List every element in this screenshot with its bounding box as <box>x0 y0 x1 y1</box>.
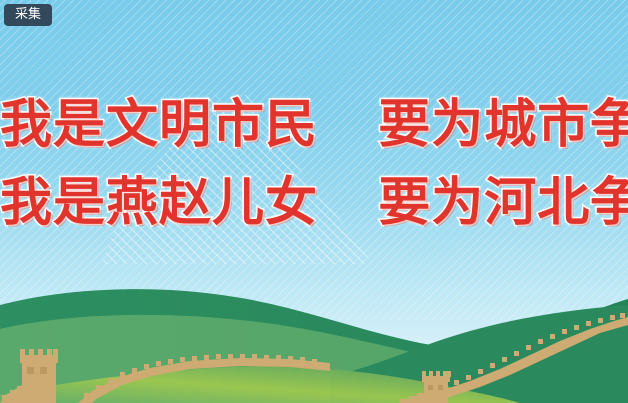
slogan-line-2-right: 要为河北争气 <box>378 173 628 233</box>
slogan-block: 我是文明市民 要为城市争光 我是燕赵儿女 要为河北争气 <box>0 86 628 242</box>
poster-canvas: 我是文明市民 要为城市争光 我是燕赵儿女 要为河北争气 <box>0 0 628 403</box>
slogan-line-1: 我是文明市民 要为城市争光 <box>0 86 628 164</box>
capture-badge[interactable]: 采集 <box>4 4 52 26</box>
slogan-line-2-left: 我是燕赵儿女 <box>0 173 318 233</box>
slogan-line-1-left: 我是文明市民 <box>0 95 318 155</box>
slogan-line-2: 我是燕赵儿女 要为河北争气 <box>0 164 628 242</box>
hills-and-great-wall <box>0 273 628 403</box>
great-wall-tower-left <box>20 349 58 403</box>
slogan-line-1-right: 要为城市争光 <box>378 95 628 155</box>
